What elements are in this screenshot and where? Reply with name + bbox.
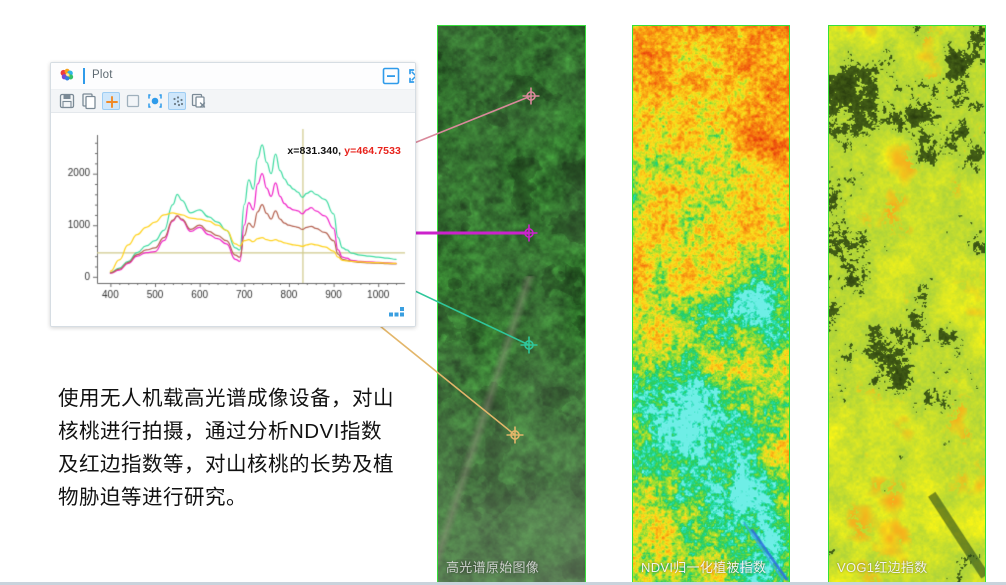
plot-window-titlebar[interactable]: Plot (51, 63, 415, 90)
sp-colored-logo-icon (59, 68, 76, 85)
minimize-icon[interactable] (382, 67, 400, 85)
readout-x-value: 831.340 (300, 145, 339, 157)
description-line-4: 物胁迫等进行研究。 (58, 481, 423, 514)
cursor-readout: x=831.340, y=464.7533 (287, 145, 401, 157)
slide-canvas: 高光谱原始图像 NDVI归一化植被指数 VOG1红边指数 Plot (0, 0, 1006, 585)
select-point-icon[interactable] (146, 92, 164, 110)
save-icon[interactable] (58, 92, 76, 110)
plot-window-title: Plot (92, 69, 113, 81)
vog1-index-image (829, 26, 985, 582)
panel-vog1[interactable]: VOG1红边指数 (828, 25, 986, 583)
panel-ndvi[interactable]: NDVI归一化植被指数 (632, 25, 790, 583)
readout-y-label: y= (344, 145, 356, 157)
description-line-2: 核桃进行拍摄，通过分析NDVI指数 (58, 415, 423, 448)
maximize-icon[interactable] (407, 67, 416, 85)
description-text: 使用无人机载高光谱成像设备，对山 核桃进行拍摄，通过分析NDVI指数 及红边指数… (58, 382, 423, 514)
description-line-3: 及红边指数等，对山核桃的长势及植 (58, 448, 423, 481)
ndvi-index-image (633, 26, 789, 582)
delete-layer-icon[interactable] (190, 92, 208, 110)
clear-plot-icon[interactable] (124, 92, 142, 110)
plot-window[interactable]: Plot (50, 62, 416, 327)
plot-toolbar[interactable] (51, 90, 415, 113)
hyperspectral-raw-image (438, 26, 585, 582)
add-plot-icon[interactable] (102, 92, 120, 110)
title-separator (83, 68, 85, 84)
copy-icon[interactable] (80, 92, 98, 110)
description-line-1: 使用无人机载高光谱成像设备，对山 (58, 382, 423, 415)
panel-caption-raw: 高光谱原始图像 (446, 557, 539, 576)
panel-caption-vog1: VOG1红边指数 (837, 557, 928, 576)
scatter-points-icon[interactable] (168, 92, 186, 110)
resize-grip-icon[interactable] (389, 306, 407, 322)
readout-y-value: 464.7533 (356, 145, 401, 157)
panel-caption-ndvi: NDVI归一化植被指数 (641, 557, 766, 576)
panel-hyperspectral-raw[interactable]: 高光谱原始图像 (437, 25, 586, 583)
readout-separator: , (338, 145, 341, 157)
readout-x-label: x= (287, 145, 299, 157)
plot-area[interactable]: x=831.340, y=464.7533 (51, 113, 415, 327)
